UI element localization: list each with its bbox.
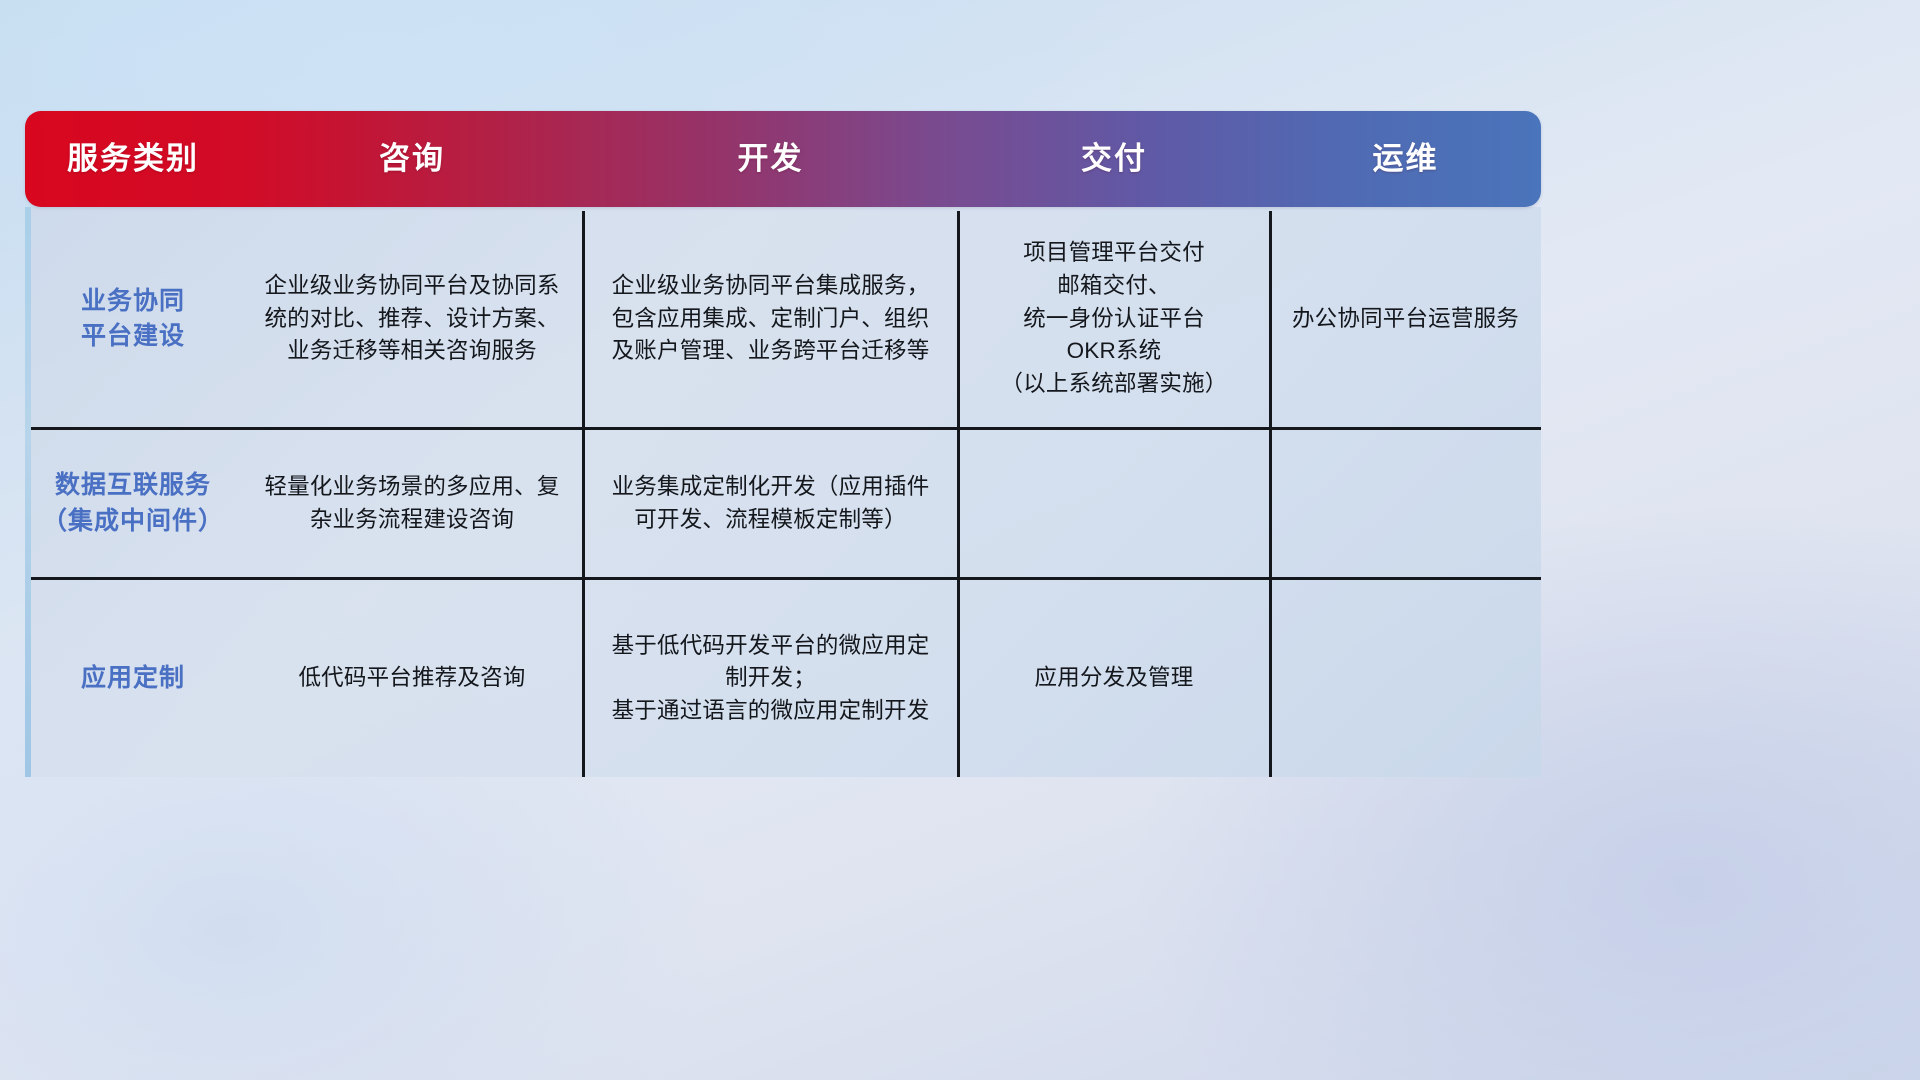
column-header-delivery: 交付	[958, 142, 1270, 176]
table-header-row: 服务类别 咨询 开发 交付 运维	[25, 111, 1541, 207]
cell-r2-development: 业务集成定制化开发（应用插件 可开发、流程模板定制等）	[583, 430, 958, 577]
row-label-app-customization: 应用定制	[25, 580, 241, 777]
cell-r3-operations	[1270, 580, 1541, 777]
column-header-development: 开发	[583, 142, 958, 176]
cell-r2-consulting: 轻量化业务场景的多应用、复 杂业务流程建设咨询	[241, 430, 583, 577]
cell-r3-development: 基于低代码开发平台的微应用定 制开发； 基于通过语言的微应用定制开发	[583, 580, 958, 777]
cell-r1-consulting: 企业级业务协同平台及协同系 统的对比、推荐、设计方案、 业务迁移等相关咨询服务	[241, 211, 583, 427]
column-header-category: 服务类别	[25, 142, 241, 176]
cell-r3-delivery: 应用分发及管理	[958, 580, 1270, 777]
cell-r2-delivery	[958, 430, 1270, 577]
column-header-operations: 运维	[1270, 142, 1541, 176]
slide-canvas: 服务类别 咨询 开发 交付 运维 业务协同 平台建设 企业级业务协同平台及协同系…	[0, 0, 1920, 1080]
service-matrix-table: 服务类别 咨询 开发 交付 运维 业务协同 平台建设 企业级业务协同平台及协同系…	[25, 111, 1541, 777]
cell-r1-delivery: 项目管理平台交付 邮箱交付、 统一身份认证平台 OKR系统 （以上系统部署实施）	[958, 211, 1270, 427]
column-header-consulting: 咨询	[241, 142, 583, 176]
cell-r1-operations: 办公协同平台运营服务	[1270, 211, 1541, 427]
cell-r2-operations	[1270, 430, 1541, 577]
cell-r1-development: 企业级业务协同平台集成服务， 包含应用集成、定制门户、组织 及账户管理、业务跨平…	[583, 211, 958, 427]
table-row: 业务协同 平台建设 企业级业务协同平台及协同系 统的对比、推荐、设计方案、 业务…	[25, 211, 1541, 427]
row-label-business-collaboration: 业务协同 平台建设	[25, 211, 241, 427]
cell-r3-consulting: 低代码平台推荐及咨询	[241, 580, 583, 777]
row-label-data-interconnect: 数据互联服务 （集成中间件）	[25, 430, 241, 577]
table-row: 应用定制 低代码平台推荐及咨询 基于低代码开发平台的微应用定 制开发； 基于通过…	[25, 580, 1541, 777]
table-row: 数据互联服务 （集成中间件） 轻量化业务场景的多应用、复 杂业务流程建设咨询 业…	[25, 430, 1541, 577]
